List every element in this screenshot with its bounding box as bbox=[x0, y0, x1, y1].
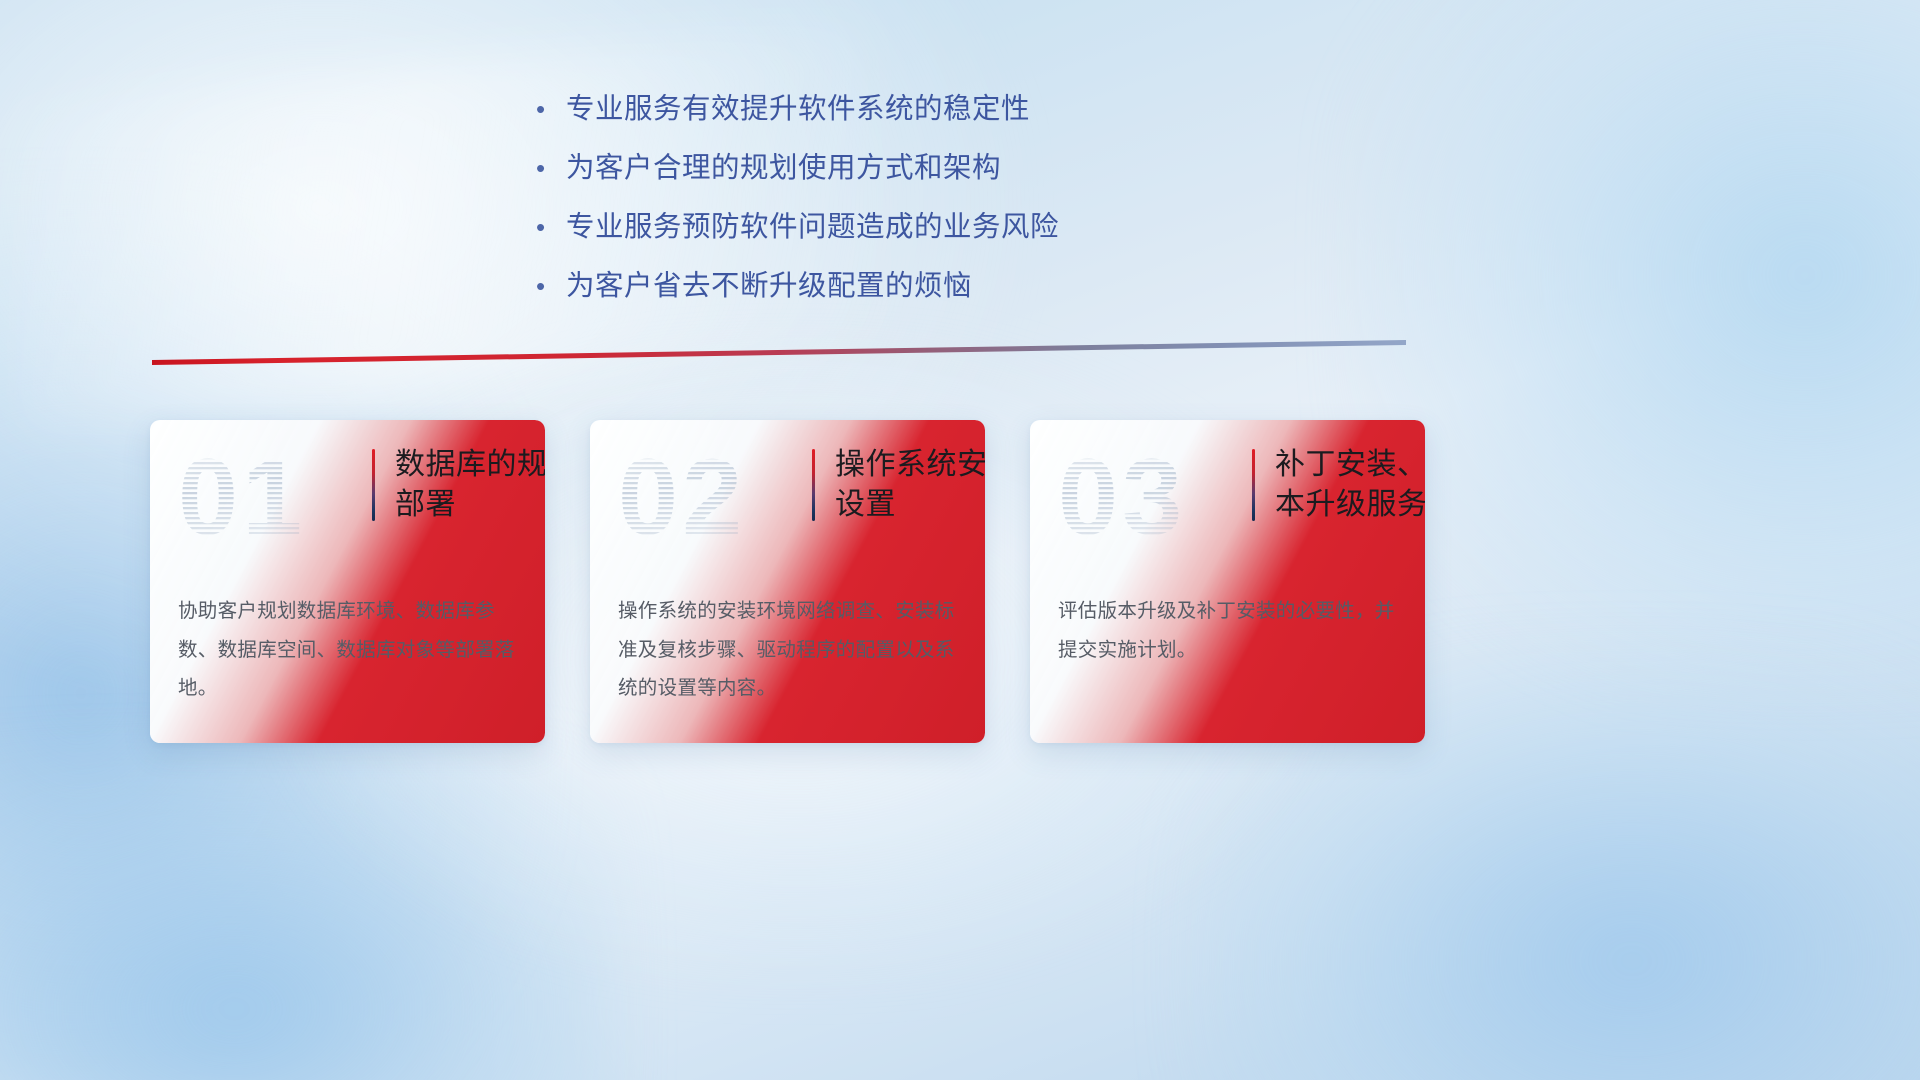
card-title: 数据库的规划与部署 bbox=[395, 445, 545, 525]
divider-taper-shape bbox=[152, 340, 1406, 366]
card-description: 操作系统的安装环境网络调查、安装标准及复核步骤、驱动程序的配置以及系统的设置等内… bbox=[618, 592, 961, 708]
list-item: • 为客户省去不断升级配置的烦恼 bbox=[536, 269, 1156, 305]
service-card-list: 01 数据库的规划与部署 协助客户规划数据库环境、数据库参数、数据库空间、数据库… bbox=[150, 420, 1425, 743]
striped-number-icon: 02 bbox=[618, 442, 788, 554]
card-number-watermark: 03 bbox=[1058, 442, 1228, 554]
bullet-marker-icon: • bbox=[536, 155, 566, 181]
list-item: • 专业服务预防软件问题造成的业务风险 bbox=[536, 210, 1156, 246]
benefits-bullet-list: • 专业服务有效提升软件系统的稳定性 • 为客户合理的规划使用方式和架构 • 专… bbox=[536, 92, 1156, 328]
card-number-watermark: 02 bbox=[618, 442, 788, 554]
card-header: 操作系统安装与设置 bbox=[812, 445, 985, 525]
svg-text:01: 01 bbox=[178, 442, 306, 554]
card-title-rule bbox=[372, 449, 375, 521]
card-header: 补丁安装、小版本升级服务 bbox=[1252, 445, 1425, 525]
background-blue-right-glow bbox=[1344, 0, 1920, 691]
striped-number-icon: 03 bbox=[1058, 442, 1228, 554]
list-item: • 专业服务有效提升软件系统的稳定性 bbox=[536, 92, 1156, 128]
service-card[interactable]: 03 补丁安装、小版本升级服务 评估版本升级及补丁安装的必要性，并提交实施计划。 bbox=[1030, 420, 1425, 743]
bullet-text: 专业服务有效提升软件系统的稳定性 bbox=[566, 92, 1030, 128]
card-title-rule bbox=[1252, 449, 1255, 521]
svg-text:03: 03 bbox=[1058, 442, 1186, 554]
card-header: 数据库的规划与部署 bbox=[372, 445, 545, 525]
card-title: 补丁安装、小版本升级服务 bbox=[1275, 445, 1425, 525]
section-divider bbox=[152, 340, 1406, 366]
card-title: 操作系统安装与设置 bbox=[835, 445, 985, 525]
card-title-rule bbox=[812, 449, 815, 521]
service-card[interactable]: 01 数据库的规划与部署 协助客户规划数据库环境、数据库参数、数据库空间、数据库… bbox=[150, 420, 545, 743]
striped-number-icon: 01 bbox=[178, 442, 348, 554]
service-card[interactable]: 02 操作系统安装与设置 操作系统的安装环境网络调查、安装标准及复核步骤、驱动程… bbox=[590, 420, 985, 743]
card-description: 协助客户规划数据库环境、数据库参数、数据库空间、数据库对象等部署落地。 bbox=[178, 592, 521, 708]
bullet-marker-icon: • bbox=[536, 96, 566, 122]
bullet-marker-icon: • bbox=[536, 214, 566, 240]
card-number-watermark: 01 bbox=[178, 442, 348, 554]
bullet-text: 为客户合理的规划使用方式和架构 bbox=[566, 151, 1001, 187]
list-item: • 为客户合理的规划使用方式和架构 bbox=[536, 151, 1156, 187]
bullet-text: 为客户省去不断升级配置的烦恼 bbox=[566, 269, 972, 305]
card-description: 评估版本升级及补丁安装的必要性，并提交实施计划。 bbox=[1058, 592, 1401, 669]
bullet-text: 专业服务预防软件问题造成的业务风险 bbox=[566, 210, 1059, 246]
bullet-marker-icon: • bbox=[536, 273, 566, 299]
svg-text:02: 02 bbox=[618, 442, 746, 554]
